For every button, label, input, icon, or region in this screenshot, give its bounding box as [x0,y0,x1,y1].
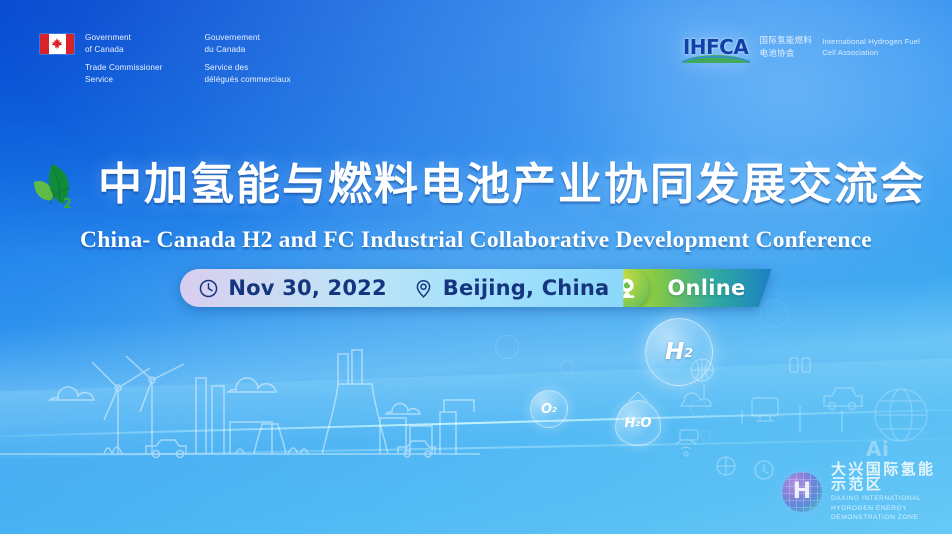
canada-wordmark-french: Gouvernement du Canada Service des délég… [204,32,290,86]
daxing-name-english: DAXING INTERNATIONAL HYDROGEN ENERGY DEM… [831,494,952,523]
svg-text:2: 2 [63,197,72,212]
location-pin-icon [413,278,434,299]
ihfca-name-english: International Hydrogen Fuel Cell Associa… [822,36,920,59]
maple-leaf-icon [52,38,63,51]
molecule-h2o-h: H [625,416,636,431]
title-block: 2 中加氢能与燃料电池产业协同发展交流会 China- Canada H2 an… [0,152,952,254]
clock-icon [198,278,219,299]
ihfca-wordmark: IHFCA [683,37,749,57]
daxing-orb-h: H [793,481,811,503]
online-badge: Online [623,269,771,307]
conference-title-chinese: 中加氢能与燃料电池产业协同发展交流会 [98,163,926,207]
molecule-o2-symbol: O [541,402,552,417]
daxing-name-chinese: 大兴国际氢能示范区 [831,462,952,492]
conference-title-english: China- Canada H2 and FC Industrial Colla… [0,227,952,254]
ihfca-mark: IHFCA [682,30,750,64]
bg-bubble [495,335,519,359]
daxing-hydrogen-zone-logo: H 大兴国际氢能示范区 DAXING INTERNATIONAL HYDROGE… [782,462,952,523]
h2-leaf-icon: 2 [26,156,88,218]
online-label: Online [667,276,745,300]
canada-flag-icon [40,34,74,54]
header: Government of Canada Trade Commissioner … [0,30,952,86]
ihfca-name-chinese: 国际氢能燃料 电池协会 [760,34,813,60]
bg-bubble [560,360,574,374]
conference-banner: Government of Canada Trade Commissioner … [0,0,952,534]
city-skyline-illustration [0,342,480,472]
gc-label-tcs-fr: Service des délégués commerciaux [204,62,290,85]
molecule-h2-symbol: H [665,339,684,365]
molecule-o2-bubble: O2 [530,390,568,428]
gc-label-government-en: Government of Canada [85,32,162,55]
government-of-canada-logo: Government of Canada Trade Commissioner … [40,32,291,86]
canada-wordmark-columns: Government of Canada Trade Commissioner … [85,32,291,86]
event-date: Nov 30, 2022 [228,276,386,300]
event-details-pill: Nov 30, 2022 Beijing, China [180,269,625,307]
canada-wordmark-english: Government of Canada Trade Commissioner … [85,32,162,86]
title-row: 2 中加氢能与燃料电池产业协同发展交流会 [0,152,952,218]
event-info-bar: Nov 30, 2022 Beijing, China [0,269,952,307]
ihfca-logo: IHFCA 国际氢能燃料 电池协会 International Hydrogen… [682,30,920,64]
gc-label-tcs-en: Trade Commissioner Service [85,62,162,85]
daxing-orb-icon: H [782,472,822,512]
molecule-h2o-droplet: H2O [615,400,661,446]
gc-label-government-fr: Gouvernement du Canada [204,32,290,55]
molecule-h2-subscript: 2 [684,345,693,360]
molecule-h2-bubble: H2 [645,318,713,386]
molecule-o2-subscript: 2 [552,405,557,414]
molecule-h2o-o: O [640,416,651,431]
event-info-wrap: Nov 30, 2022 Beijing, China [180,269,771,307]
event-location: Beijing, China [443,276,610,300]
daxing-text: 大兴国际氢能示范区 DAXING INTERNATIONAL HYDROGEN … [831,462,952,523]
ai-watermark-text: Ai [866,437,889,461]
